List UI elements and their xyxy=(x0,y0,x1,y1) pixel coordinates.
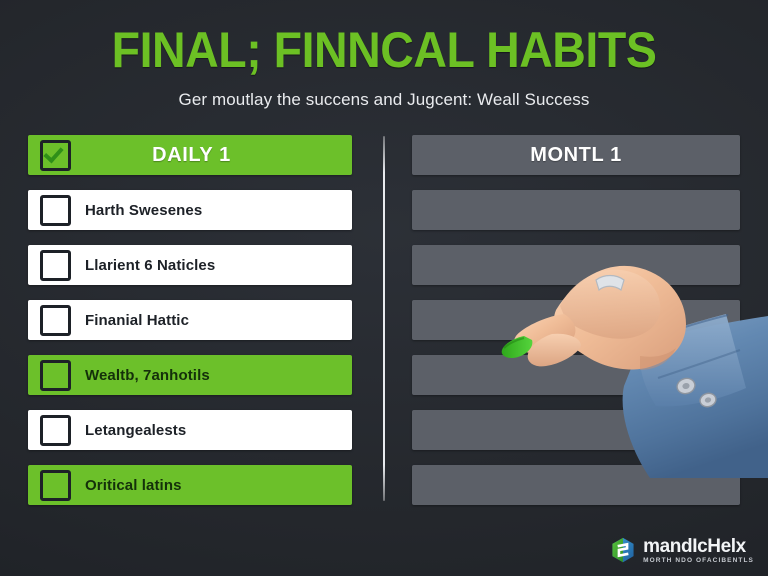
list-item-label: Harth Swesenes xyxy=(85,202,202,219)
list-item[interactable]: Letangealests xyxy=(28,410,352,450)
list-item[interactable] xyxy=(412,300,740,340)
list-item[interactable]: Oritical latins xyxy=(28,465,352,505)
helix-hexagon-logo-icon xyxy=(610,537,636,563)
checkbox-icon[interactable] xyxy=(40,415,71,446)
list-item[interactable] xyxy=(412,245,740,285)
checkbox-icon[interactable] xyxy=(40,470,71,501)
checkbox-icon[interactable] xyxy=(40,305,71,336)
list-item-label: Llarient 6 Naticles xyxy=(85,257,215,274)
brand-logo: mandIcHelx MORTH NDO OFACIBENTLS xyxy=(610,537,754,565)
monthly-column-header[interactable]: MONTL 1 xyxy=(412,135,740,175)
list-item-label: Wealtb, 7anhotils xyxy=(85,367,210,384)
list-item[interactable] xyxy=(412,355,740,395)
checkbox-icon-checked[interactable] xyxy=(40,140,71,171)
monthly-checklist-column: MONTL 1 xyxy=(412,135,740,520)
logo-name: mandIcHelx xyxy=(643,537,754,556)
list-item[interactable] xyxy=(412,190,740,230)
list-item-label: Letangealests xyxy=(85,422,186,439)
list-item[interactable]: Llarient 6 Naticles xyxy=(28,245,352,285)
poster-canvas: FINAL; FINNCAL HABITS Ger moutlay the su… xyxy=(0,0,768,576)
page-title: FINAL; FINNCAL HABITS xyxy=(27,22,741,78)
monthly-column-header-label: MONTL 1 xyxy=(412,144,740,167)
column-divider xyxy=(383,136,385,501)
list-item[interactable] xyxy=(412,410,740,450)
daily-checklist-column: DAILY 1 Harth Swesenes Llarient 6 Naticl… xyxy=(28,135,352,520)
list-item-label: Finanial Hattic xyxy=(85,312,189,329)
checkbox-icon[interactable] xyxy=(40,360,71,391)
list-item[interactable]: Wealtb, 7anhotils xyxy=(28,355,352,395)
daily-column-header-label: DAILY 1 xyxy=(71,144,312,167)
logo-tagline: MORTH NDO OFACIBENTLS xyxy=(643,558,754,565)
checkbox-icon[interactable] xyxy=(40,195,71,226)
list-item-label: Oritical latins xyxy=(85,477,182,494)
list-item[interactable] xyxy=(412,465,740,505)
list-item[interactable]: Harth Swesenes xyxy=(28,190,352,230)
daily-column-header[interactable]: DAILY 1 xyxy=(28,135,352,175)
list-item[interactable]: Finanial Hattic xyxy=(28,300,352,340)
checkbox-icon[interactable] xyxy=(40,250,71,281)
page-subtitle: Ger moutlay the succens and Jugcent: Wea… xyxy=(0,89,768,111)
